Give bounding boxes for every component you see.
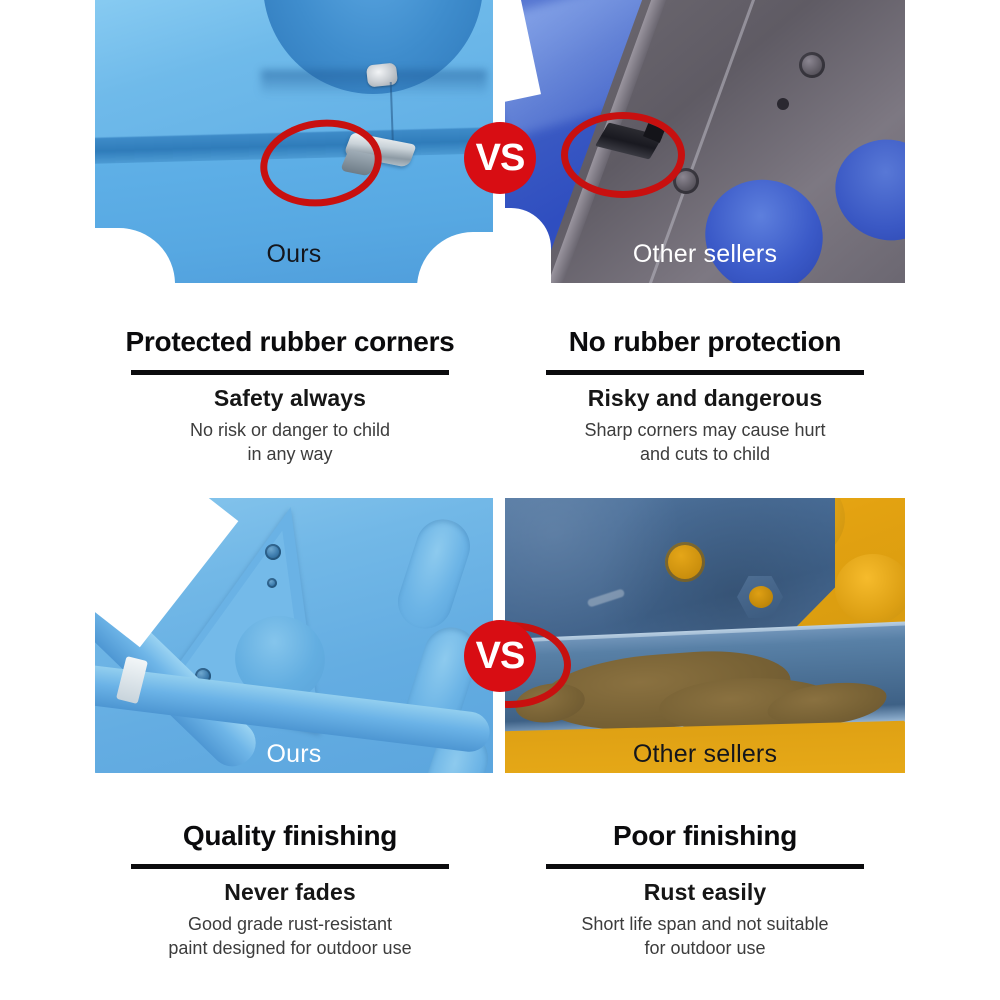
title-divider bbox=[546, 864, 864, 869]
comparison-infographic: Ours Other bbox=[0, 0, 1000, 1000]
theirs-body-line1: Short life span and not suitable bbox=[495, 913, 915, 937]
ours-photo-quality-finish: Ours bbox=[95, 498, 493, 773]
frame-bolt bbox=[799, 52, 825, 78]
ours-body-line2: paint designed for outdoor use bbox=[80, 937, 500, 961]
theirs-title: Poor finishing bbox=[495, 820, 915, 852]
theirs-body-line2: and cuts to child bbox=[495, 443, 915, 467]
vs-badge: VS bbox=[464, 620, 536, 692]
theirs-photo-rusted-finish: Other sellers bbox=[505, 498, 905, 773]
bracket-screw bbox=[265, 544, 281, 560]
hex-nut-bore bbox=[749, 586, 773, 608]
bracket-hole bbox=[665, 542, 705, 582]
theirs-subtitle: Risky and dangerous bbox=[495, 385, 915, 412]
theirs-body-line2: for outdoor use bbox=[495, 937, 915, 961]
comparison-section-finishing: Ours bbox=[0, 498, 1000, 1000]
theirs-text-block: Poor finishing Rust easily Short life sp… bbox=[495, 820, 915, 961]
vs-badge: VS bbox=[464, 122, 536, 194]
ours-body-line1: Good grade rust-resistant bbox=[80, 913, 500, 937]
title-divider bbox=[131, 864, 449, 869]
ours-text-block: Protected rubber corners Safety always N… bbox=[80, 326, 500, 467]
ours-subtitle: Never fades bbox=[80, 879, 500, 906]
theirs-title: No rubber protection bbox=[495, 326, 915, 358]
comparison-section-rubber-corners: Ours Other bbox=[0, 0, 1000, 498]
photo-art-ours-bracket bbox=[95, 498, 493, 773]
title-divider bbox=[131, 370, 449, 375]
seat-depression bbox=[835, 554, 905, 624]
title-divider bbox=[546, 370, 864, 375]
ours-text-block: Quality finishing Never fades Good grade… bbox=[80, 820, 500, 961]
theirs-text-block: No rubber protection Risky and dangerous… bbox=[495, 326, 915, 467]
ours-title: Protected rubber corners bbox=[80, 326, 500, 358]
ours-title: Quality finishing bbox=[80, 820, 500, 852]
ours-body-line1: No risk or danger to child bbox=[80, 419, 500, 443]
photo-art-theirs-rust bbox=[505, 498, 905, 773]
red-highlight-ring-icon bbox=[561, 112, 685, 198]
ours-photo-rubber-corner: Ours bbox=[95, 0, 493, 283]
bracket-screw bbox=[267, 578, 277, 588]
theirs-photo-sharp-corner: Other sellers bbox=[505, 0, 905, 283]
frame-hole bbox=[777, 98, 789, 110]
ours-subtitle: Safety always bbox=[80, 385, 500, 412]
ours-body-line2: in any way bbox=[80, 443, 500, 467]
photo-art-ours-corner bbox=[95, 0, 493, 283]
theirs-subtitle: Rust easily bbox=[495, 879, 915, 906]
photo-art-theirs-corner bbox=[505, 0, 905, 283]
theirs-body-line1: Sharp corners may cause hurt bbox=[495, 419, 915, 443]
screw-head bbox=[366, 62, 398, 87]
